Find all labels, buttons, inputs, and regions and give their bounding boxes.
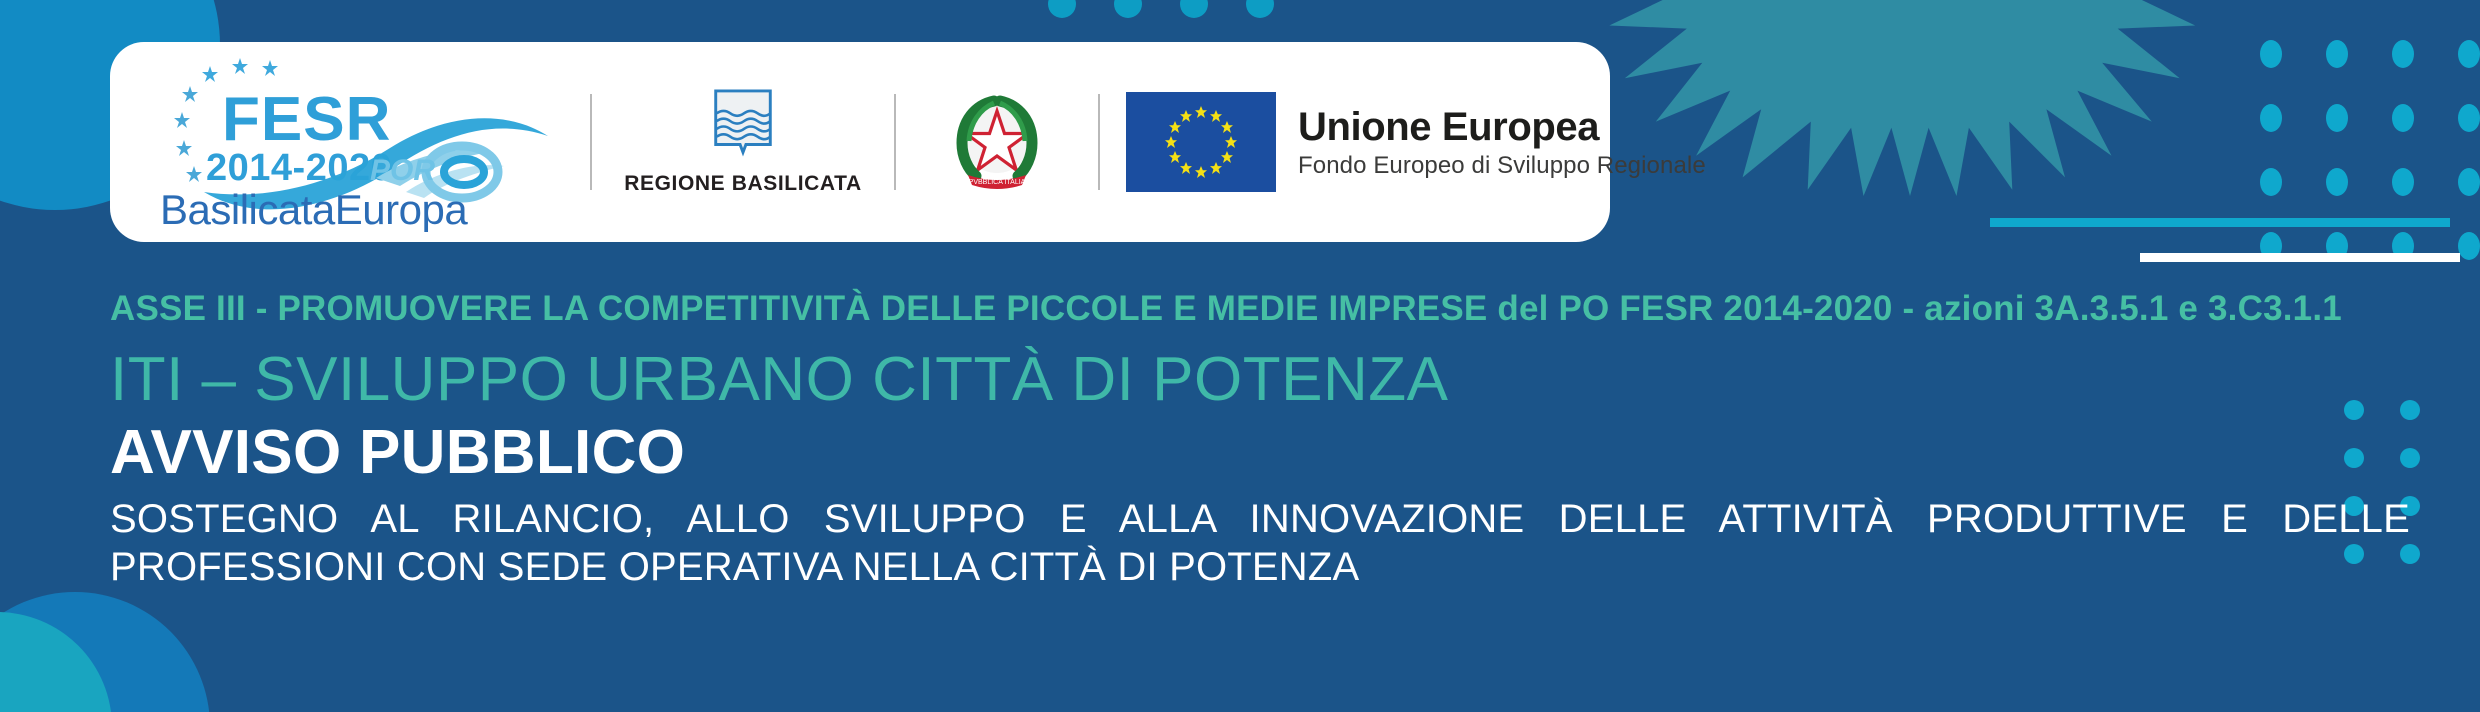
dot: [2458, 40, 2480, 68]
divider: [1098, 94, 1100, 190]
dot: [2458, 104, 2480, 132]
dot: [1246, 0, 1274, 18]
decorative-dot-grid-top-right: [2260, 40, 2480, 260]
svg-text:POR: POR: [370, 154, 435, 187]
dot: [2326, 104, 2348, 132]
fesr-por-basilicata-europa-logo: FESR 2014-2020 POR BasilicataEuropa: [144, 52, 564, 232]
svg-text:FESR: FESR: [222, 85, 391, 154]
regione-basilicata-label: REGIONE BASILICATA: [624, 172, 862, 196]
italian-republic-emblem-icon: REPVBBLICA ITALIANA: [942, 87, 1052, 197]
decorative-rule-teal: [1990, 218, 2450, 227]
dot: [2326, 40, 2348, 68]
dot: [2392, 168, 2414, 196]
decorative-circle-bottom-left-front: [0, 612, 112, 712]
divider: [590, 94, 592, 190]
dot: [1114, 0, 1142, 18]
eu-flag-icon: [1126, 92, 1276, 192]
logo-card: FESR 2014-2020 POR BasilicataEuropa: [110, 42, 1610, 242]
unione-europea-title: Unione Europea: [1298, 106, 1706, 148]
dot: [1180, 0, 1208, 18]
dot: [2326, 168, 2348, 196]
decorative-circle-bottom-left-back: [0, 592, 210, 712]
dot: [2260, 168, 2282, 196]
asse-line: ASSE III - PROMUOVERE LA COMPETITIVITÀ D…: [110, 288, 2390, 331]
divider: [894, 94, 896, 190]
poster-text-block: ASSE III - PROMUOVERE LA COMPETITIVITÀ D…: [110, 288, 2410, 591]
dot: [2458, 168, 2480, 196]
dot: [2260, 104, 2282, 132]
subtitle: SOSTEGNO AL RILANCIO, ALLO SVILUPPO E AL…: [110, 495, 2410, 591]
unione-europea-logo: Unione Europea Fondo Europeo di Sviluppo…: [1126, 92, 1706, 192]
decorative-rule-white: [2140, 253, 2460, 262]
iti-title: ITI – SVILUPPO URBANO CITTÀ DI POTENZA: [110, 347, 2410, 414]
unione-europea-subtitle: Fondo Europeo di Sviluppo Regionale: [1298, 153, 1706, 178]
regione-basilicata-logo: REGIONE BASILICATA: [618, 88, 868, 196]
basilicata-shield-icon: [712, 88, 774, 164]
avviso-title: AVVISO PUBBLICO: [110, 420, 2410, 487]
dot: [1048, 0, 1076, 18]
subtitle-line-1: SOSTEGNO AL RILANCIO, ALLO SVILUPPO E AL…: [110, 495, 2410, 543]
dot: [2260, 40, 2282, 68]
dot: [2458, 232, 2480, 260]
repubblica-italiana-emblem: REPVBBLICA ITALIANA: [922, 87, 1072, 197]
dot: [2392, 40, 2414, 68]
svg-text:REPVBBLICA ITALIANA: REPVBBLICA ITALIANA: [959, 179, 1035, 186]
dot: [2392, 104, 2414, 132]
svg-text:BasilicataEuropa: BasilicataEuropa: [160, 186, 468, 232]
subtitle-line-2: PROFESSIONI CON SEDE OPERATIVA NELLA CIT…: [110, 543, 2410, 591]
decorative-top-dots: [1048, 0, 1274, 18]
poster-canvas: FESR 2014-2020 POR BasilicataEuropa: [0, 0, 2480, 712]
